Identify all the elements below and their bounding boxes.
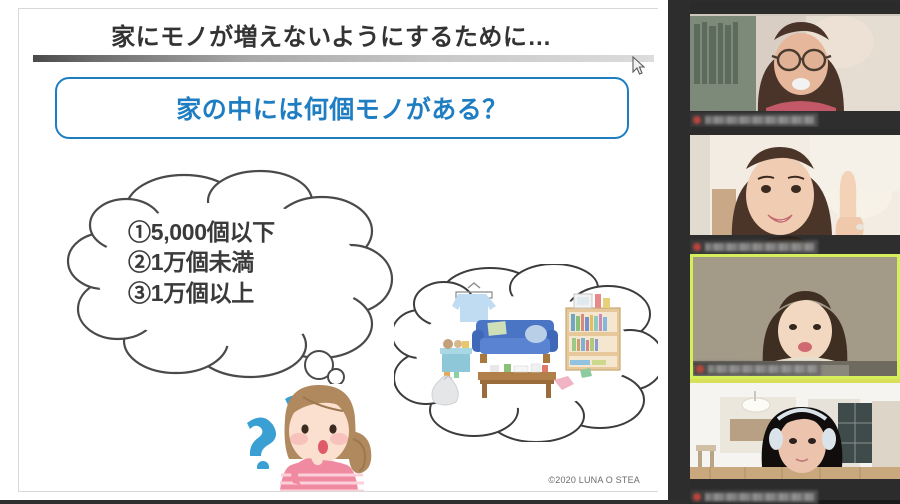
title-divider xyxy=(33,55,654,62)
answer-option-3: ③1万個以上 xyxy=(128,278,275,308)
blurred-name-text xyxy=(708,365,817,373)
answer-option-2: ②1万個未満 xyxy=(128,247,275,277)
participant-video-4 xyxy=(690,379,900,504)
question-box: 家の中には何個モノがある？ xyxy=(55,77,629,139)
participant-tile-1[interactable] xyxy=(690,2,900,127)
participant-video-3 xyxy=(693,257,897,376)
participant-tile-2[interactable] xyxy=(690,129,900,254)
thought-bubble-answers: ①5,000個以下 ②1万個未満 ③1万個以上 xyxy=(64,169,394,384)
participant-tile-3-active-speaker[interactable] xyxy=(690,254,900,379)
muted-mic-icon xyxy=(696,365,704,373)
page-title: 家にモノが増えないようにするために… xyxy=(19,17,644,52)
participant-name-label-2 xyxy=(690,240,818,254)
answer-option-1: ①5,000個以下 xyxy=(128,217,275,247)
answer-options-list: ①5,000個以下 ②1万個未満 ③1万個以上 xyxy=(128,217,275,308)
participant-name-label-4 xyxy=(690,490,818,504)
muted-mic-icon xyxy=(693,116,701,124)
participant-name-label-3 xyxy=(693,362,821,376)
muted-mic-icon xyxy=(693,243,701,251)
thought-bubble-shape xyxy=(394,264,658,442)
participant-video-1 xyxy=(690,2,900,127)
participant-tile-4[interactable] xyxy=(690,379,900,504)
mouse-pointer xyxy=(632,56,646,76)
question-box-label: 家の中には何個モノがある？ xyxy=(57,90,627,126)
presentation-slide: 家にモノが増えないようにするために… 家の中には何個モノがある？ xyxy=(18,8,658,492)
screen-share-meeting-window: 家にモノが増えないようにするために… 家の中には何個モノがある？ xyxy=(0,0,900,500)
copyright-text: ©2020 LUNA O STEA xyxy=(548,475,640,485)
shared-screen-area[interactable]: 家にモノが増えないようにするために… 家の中には何個モノがある？ xyxy=(0,0,668,500)
thought-bubble-items xyxy=(394,264,658,439)
blurred-name-text xyxy=(705,116,814,124)
blurred-name-text xyxy=(705,243,814,251)
participant-name-label-1 xyxy=(690,113,818,127)
thinking-girl-illustration xyxy=(247,379,397,492)
participant-video-2 xyxy=(690,129,900,254)
participant-video-strip xyxy=(690,0,900,500)
